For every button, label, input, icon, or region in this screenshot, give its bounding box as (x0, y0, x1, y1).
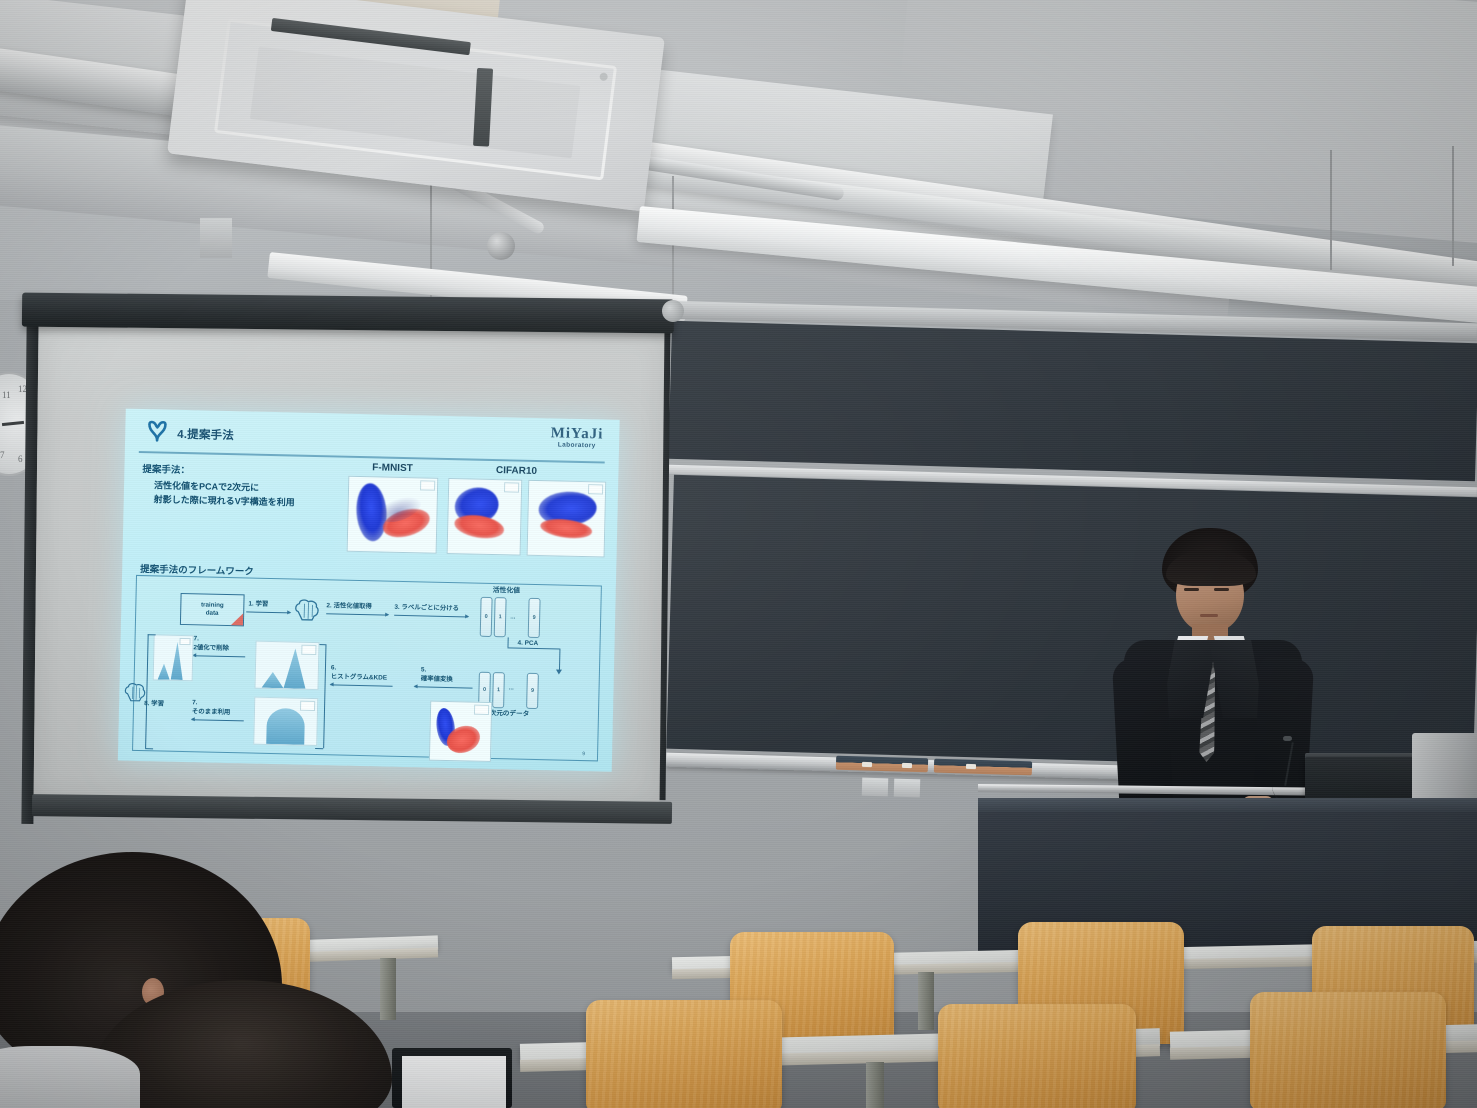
activation-column-0: 0 (480, 597, 493, 637)
chalkboard-lower-panel (666, 475, 1477, 771)
flow-arrow (246, 611, 290, 613)
kde-peak (158, 663, 170, 679)
slide-page-number: 9 (582, 751, 585, 757)
method-description: 活性化値をPCAで2次元に 射影した際に現れるV字構造を利用 (154, 479, 296, 509)
chalk-piece (966, 764, 976, 769)
step-5-label: 5. 確率値変換 (421, 666, 453, 684)
projected-slide: 4.提案手法 MiYaJi Laboratory 提案手法： 活性化値をPCAで… (118, 409, 620, 772)
plot-legend (301, 645, 316, 655)
step-1-label: 1. 学習 (248, 600, 268, 609)
hanger-rod (1330, 150, 1332, 270)
flow-arrow-step6 (331, 684, 393, 686)
plot-legend (300, 701, 315, 711)
branch-bracket (315, 748, 323, 749)
plot-title-fmnist: F-MNIST (346, 462, 438, 475)
output-bracket (145, 748, 153, 749)
activation-column-label: 0 (481, 614, 491, 620)
microphone-icon (1283, 736, 1292, 741)
twod-column-ellipsis: … (508, 685, 514, 692)
desk-leg (866, 1062, 884, 1108)
clock-numeral: 11 (2, 390, 11, 400)
activation-column-ellipsis: … (510, 614, 516, 621)
screen-surface: 4.提案手法 MiYaJi Laboratory 提案手法： 活性化値をPCAで… (34, 325, 665, 806)
output-bracket (148, 634, 156, 635)
chalkboard-upper-panel (668, 321, 1477, 481)
flow-arrow (326, 613, 388, 615)
step-7a-label: 7. 2値化で削除 (193, 635, 229, 653)
activation-value-label: 活性化値 (493, 586, 520, 596)
desk-leg (918, 972, 934, 1030)
plot-legend (179, 638, 190, 645)
plot-title-cifar10: CIFAR10 (462, 464, 570, 477)
lab-logo: MiYaJi Laboratory (550, 426, 603, 450)
junction-box (200, 218, 232, 258)
training-data-accent (231, 613, 243, 625)
chair[interactable] (938, 1004, 1136, 1108)
flow-arrow-step5 (415, 686, 473, 688)
lecture-hall-photo: 12 11 10 9 8 7 6 (0, 0, 1477, 1108)
activation-column-label: 1 (495, 614, 505, 620)
lab-logo-name: MiYaJi (550, 426, 603, 442)
plot-legend (588, 484, 603, 494)
tray-bracket (862, 778, 888, 797)
twod-column-9: 9 (526, 673, 539, 709)
presenter-eye (1214, 588, 1229, 591)
framework-panel: training data 1. 学習 2. 活性化値取得 3. ラ (132, 575, 602, 762)
lab-logo-subtitle: Laboratory (550, 442, 603, 450)
presenter-mouth (1200, 614, 1218, 617)
method-label: 提案手法： (142, 461, 190, 476)
flow-arrow (394, 615, 468, 618)
step-2-label: 2. 活性化値取得 (326, 602, 372, 612)
twod-data-label: 2次元のデータ (486, 710, 529, 720)
training-data-line2: data (206, 610, 219, 618)
activation-column-1: 1 (494, 597, 507, 637)
scatter-plot-cifar10-a (447, 478, 523, 556)
screen-roller-case (22, 293, 674, 334)
chalk-piece (862, 762, 872, 767)
twod-column-label: 1 (493, 687, 503, 693)
plot-legend (504, 482, 519, 492)
twod-column-label: 9 (527, 688, 537, 694)
plot-legend (420, 480, 435, 490)
audience-document (402, 1056, 506, 1108)
histogram-raw (253, 697, 318, 746)
projection-screen: 4.提案手法 MiYaJi Laboratory 提案手法： 活性化値をPCAで… (22, 296, 682, 836)
eraser (836, 756, 928, 773)
chalkboard (666, 300, 1477, 800)
chalk-piece (902, 763, 912, 768)
scatter-plot-2d-projection (429, 701, 492, 762)
branch-bracket (323, 644, 326, 748)
step-6-label: 6. ヒストグラム&KDE (331, 664, 388, 683)
pipe-cap (487, 232, 515, 260)
pca-connector (507, 637, 508, 647)
chair[interactable] (586, 1000, 782, 1108)
presenter-eye (1184, 588, 1199, 591)
heart-outline-icon (145, 420, 170, 447)
screen-roller-knob[interactable] (662, 300, 684, 322)
slide-header: 4.提案手法 MiYaJi Laboratory (139, 417, 606, 462)
chair-backrest (586, 1000, 782, 1108)
presenter-arm (1112, 657, 1174, 822)
podium-console[interactable] (1305, 757, 1415, 803)
plot-legend (474, 705, 489, 715)
chair-backrest (938, 1004, 1136, 1108)
twod-column-1: 1 (492, 672, 505, 708)
chair-backrest (1250, 992, 1446, 1108)
step-7b-label: 7. そのまま利用 (192, 699, 231, 717)
training-data-box: training data (180, 593, 245, 626)
slide-title: 4.提案手法 (177, 426, 234, 443)
clock-numeral: 7 (0, 450, 5, 460)
activation-column-label: 9 (529, 615, 539, 621)
chair[interactable] (1250, 992, 1446, 1108)
kde-peak (261, 672, 283, 688)
clock-hand (2, 421, 24, 426)
hanger-rod (1452, 146, 1454, 266)
step-4-label: 4. PCA (517, 640, 538, 649)
histogram-input (153, 634, 194, 681)
eraser (934, 759, 1032, 776)
brain-icon (292, 595, 323, 626)
kde-peak (171, 642, 184, 680)
histogram-binarized (254, 641, 319, 690)
desk-leg (380, 958, 396, 1020)
flow-arrow-step7a (193, 655, 245, 657)
scatter-plot-cifar10-b (527, 480, 607, 558)
step-3-label: 3. ラベルごとに分ける (394, 604, 459, 614)
cluster-red (453, 512, 506, 542)
step-8-label: 8. 学習 (144, 700, 164, 709)
twod-column-label: 0 (479, 687, 489, 693)
kde-peak (266, 708, 305, 745)
pca-arrowhead (556, 669, 562, 674)
scatter-plot-fmnist (347, 476, 439, 554)
pca-connector (559, 649, 560, 671)
tray-bracket (894, 779, 920, 798)
flow-arrow-step7b (192, 719, 244, 721)
activation-column-9: 9 (528, 598, 541, 638)
audience-shoulder (0, 1046, 140, 1108)
